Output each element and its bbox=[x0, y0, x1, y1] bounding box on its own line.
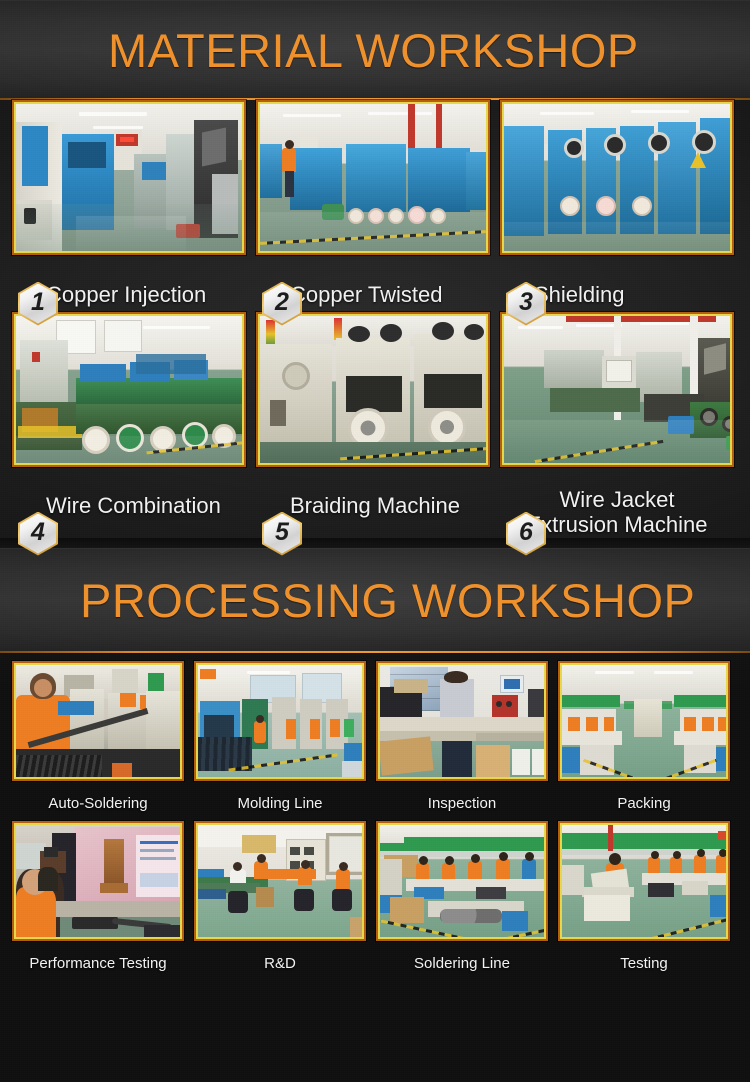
photo-frame bbox=[12, 821, 184, 941]
photo-molding-line bbox=[198, 665, 362, 777]
step-badge: 3 bbox=[506, 282, 546, 326]
hexagon-icon: 3 bbox=[506, 282, 546, 326]
material-cell-label: Braiding Machine bbox=[256, 467, 490, 519]
photo-frame bbox=[194, 661, 366, 781]
material-workshop-title-band: MATERIAL WORKSHOP bbox=[0, 0, 750, 100]
photo-soldering-line bbox=[380, 825, 544, 937]
step-number: 6 bbox=[519, 520, 533, 545]
photo-frame bbox=[500, 100, 734, 255]
processing-cell-label: Soldering Line bbox=[376, 941, 548, 973]
photo-copper-injection bbox=[16, 104, 242, 251]
processing-cell-soldering-line[interactable]: Soldering Line bbox=[376, 821, 548, 973]
step-badge: 2 bbox=[262, 282, 302, 326]
material-workshop-section: 1 Copper Injection bbox=[0, 100, 750, 538]
photo-frame bbox=[256, 100, 490, 255]
photo-auto-soldering bbox=[16, 665, 180, 777]
photo-frame bbox=[500, 312, 734, 467]
photo-frame bbox=[12, 661, 184, 781]
photo-inspection bbox=[380, 665, 544, 777]
photo-frame bbox=[256, 312, 490, 467]
processing-cell-rd[interactable]: R&D bbox=[194, 821, 366, 973]
section-divider bbox=[0, 538, 750, 548]
step-number: 1 bbox=[31, 290, 45, 315]
material-cell-copper-injection[interactable]: 1 Copper Injection bbox=[12, 100, 246, 308]
processing-cell-packing[interactable]: Packing bbox=[558, 661, 730, 813]
photo-frame bbox=[558, 821, 730, 941]
photo-testing bbox=[562, 825, 726, 937]
photo-frame bbox=[194, 821, 366, 941]
photo-packing bbox=[562, 665, 726, 777]
processing-cell-molding-line[interactable]: Molding Line bbox=[194, 661, 366, 813]
material-workshop-title: MATERIAL WORKSHOP bbox=[0, 27, 639, 74]
photo-frame bbox=[12, 312, 246, 467]
processing-cell-performance-testing[interactable]: Performance Testing bbox=[12, 821, 184, 973]
processing-cell-auto-soldering[interactable]: Auto-Soldering bbox=[12, 661, 184, 813]
photo-frame bbox=[376, 661, 548, 781]
processing-cell-inspection[interactable]: Inspection bbox=[376, 661, 548, 813]
step-badge: 5 bbox=[262, 512, 302, 556]
step-number: 3 bbox=[519, 290, 533, 315]
material-row-1: 1 Copper Injection bbox=[0, 100, 750, 308]
photo-performance-testing bbox=[16, 825, 180, 937]
processing-workshop-section: Auto-Soldering bbox=[0, 653, 750, 973]
processing-row-2: Performance Testing bbox=[0, 813, 750, 973]
processing-cell-label: Auto-Soldering bbox=[12, 781, 184, 813]
photo-rd bbox=[198, 825, 362, 937]
material-cell-shielding[interactable]: 3 Shielding bbox=[500, 100, 734, 308]
step-number: 4 bbox=[31, 520, 45, 545]
photo-braiding-machine bbox=[260, 316, 486, 463]
material-cell-braiding-machine[interactable]: 5 Braiding Machine bbox=[256, 312, 490, 538]
processing-cell-label: R&D bbox=[194, 941, 366, 973]
material-row-2: 4 Wire Combination bbox=[0, 312, 750, 538]
hexagon-icon: 1 bbox=[18, 282, 58, 326]
hexagon-icon: 5 bbox=[262, 512, 302, 556]
material-cell-copper-twisted[interactable]: 2 Copper Twisted bbox=[256, 100, 490, 308]
step-number: 2 bbox=[275, 290, 289, 315]
processing-workshop-title: PROCESSING WORKSHOP bbox=[0, 577, 695, 624]
photo-wire-combination bbox=[16, 316, 242, 463]
material-cell-wire-combination[interactable]: 4 Wire Combination bbox=[12, 312, 246, 538]
processing-cell-label: Molding Line bbox=[194, 781, 366, 813]
step-badge: 4 bbox=[18, 512, 58, 556]
processing-cell-testing[interactable]: Testing bbox=[558, 821, 730, 973]
step-badge: 6 bbox=[506, 512, 546, 556]
photo-frame bbox=[12, 100, 246, 255]
processing-workshop-title-band: PROCESSING WORKSHOP bbox=[0, 548, 750, 653]
photo-frame bbox=[558, 661, 730, 781]
material-cell-label: Wire Combination bbox=[12, 467, 246, 519]
processing-cell-label: Performance Testing bbox=[12, 941, 184, 973]
processing-row-1: Auto-Soldering bbox=[0, 653, 750, 813]
hexagon-icon: 6 bbox=[506, 512, 546, 556]
step-number: 5 bbox=[275, 520, 289, 545]
hexagon-icon: 4 bbox=[18, 512, 58, 556]
photo-shielding bbox=[504, 104, 730, 251]
hexagon-icon: 2 bbox=[262, 282, 302, 326]
photo-frame bbox=[376, 821, 548, 941]
material-cell-wire-jacket-extrusion[interactable]: 6 Wire Jacket Extrusion Machine bbox=[500, 312, 734, 538]
factory-workshop-banner: MATERIAL WORKSHOP bbox=[0, 0, 750, 1082]
step-badge: 1 bbox=[18, 282, 58, 326]
processing-cell-label: Packing bbox=[558, 781, 730, 813]
photo-copper-twisted bbox=[260, 104, 486, 251]
processing-cell-label: Testing bbox=[558, 941, 730, 973]
processing-cell-label: Inspection bbox=[376, 781, 548, 813]
photo-wire-jacket-extrusion bbox=[504, 316, 730, 463]
